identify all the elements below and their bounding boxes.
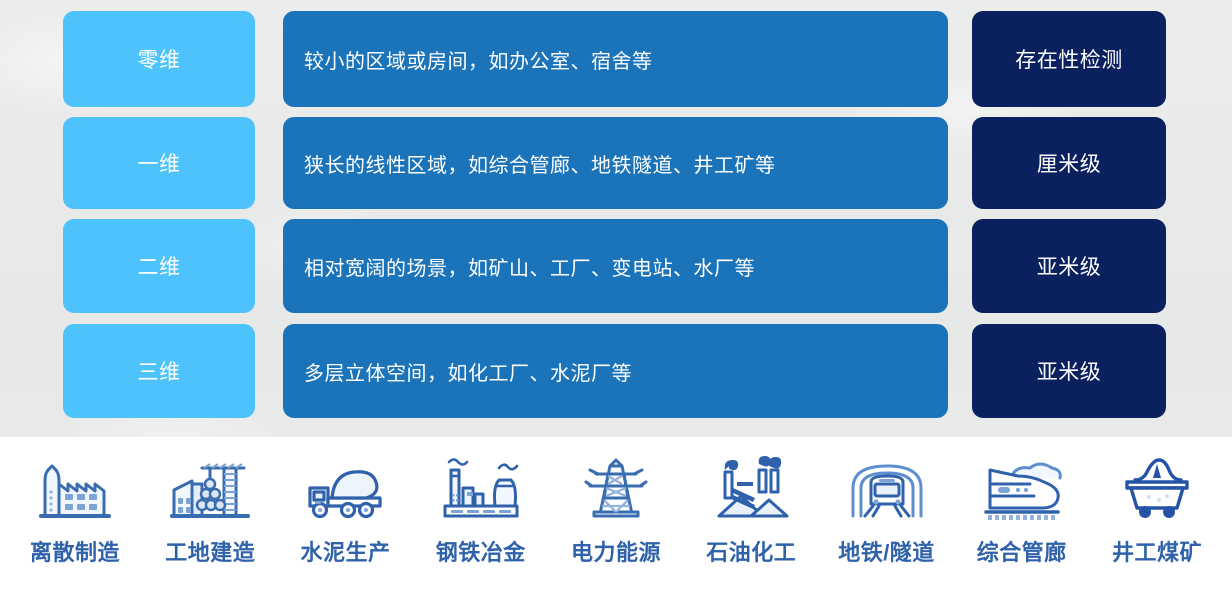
industry-label: 石油化工: [706, 535, 796, 567]
precision-cell[interactable]: 亚米级: [972, 219, 1166, 313]
petrochemical-plant-icon: [705, 451, 797, 529]
industry-label: 工地建造: [165, 535, 255, 567]
industry-label: 水泥生产: [300, 535, 390, 567]
steel-plant-icon: [435, 451, 527, 529]
factory-icon: [29, 451, 121, 529]
industry-item-cement-production[interactable]: 水泥生产: [281, 451, 411, 567]
table-row: 三维 多层立体空间，如化工厂、水泥厂等 亚米级: [0, 324, 1232, 418]
industry-label: 综合管廊: [977, 535, 1067, 567]
industry-item-power-energy[interactable]: 电力能源: [551, 451, 681, 567]
construction-crane-icon: [164, 451, 256, 529]
dimension-cell[interactable]: 一维: [63, 117, 255, 209]
dimension-cell[interactable]: 三维: [63, 324, 255, 418]
industry-label: 离散制造: [30, 535, 120, 567]
industry-strip: 离散制造: [0, 437, 1232, 610]
dimension-cell[interactable]: 二维: [63, 219, 255, 313]
industry-item-discrete-manufacturing[interactable]: 离散制造: [10, 451, 140, 567]
high-speed-train-icon: [976, 451, 1068, 529]
description-cell[interactable]: 狭长的线性区域，如综合管廊、地铁隧道、井工矿等: [283, 117, 948, 209]
precision-cell[interactable]: 亚米级: [972, 324, 1166, 418]
industry-item-construction-site[interactable]: 工地建造: [145, 451, 275, 567]
precision-cell[interactable]: 存在性检测: [972, 11, 1166, 107]
industry-item-utility-tunnel[interactable]: 综合管廊: [957, 451, 1087, 567]
description-cell[interactable]: 多层立体空间，如化工厂、水泥厂等: [283, 324, 948, 418]
description-cell[interactable]: 较小的区域或房间，如办公室、宿舍等: [283, 11, 948, 107]
industry-label: 地铁/隧道: [838, 535, 935, 567]
industry-label: 电力能源: [571, 535, 661, 567]
precision-cell[interactable]: 厘米级: [972, 117, 1166, 209]
description-cell[interactable]: 相对宽阔的场景，如矿山、工厂、变电站、水厂等: [283, 219, 948, 313]
industry-item-petrochemical[interactable]: 石油化工: [686, 451, 816, 567]
industry-item-underground-coal-mine[interactable]: 井工煤矿: [1092, 451, 1222, 567]
cement-mixer-truck-icon: [300, 451, 392, 529]
power-pylon-icon: [570, 451, 662, 529]
dimension-cell[interactable]: 零维: [63, 11, 255, 107]
dimension-matrix: 零维 较小的区域或房间，如办公室、宿舍等 存在性检测 一维 狭长的线性区域，如综…: [0, 0, 1232, 437]
table-row: 一维 狭长的线性区域，如综合管廊、地铁隧道、井工矿等 厘米级: [0, 117, 1232, 209]
industry-label: 井工煤矿: [1112, 535, 1202, 567]
table-row: 二维 相对宽阔的场景，如矿山、工厂、变电站、水厂等 亚米级: [0, 219, 1232, 313]
subway-tunnel-icon: [841, 451, 933, 529]
industry-item-subway-tunnel[interactable]: 地铁/隧道: [822, 451, 952, 567]
industry-label: 钢铁冶金: [436, 535, 526, 567]
table-row: 零维 较小的区域或房间，如办公室、宿舍等 存在性检测: [0, 11, 1232, 107]
coal-mine-cart-icon: [1111, 451, 1203, 529]
industry-item-steel-metallurgy[interactable]: 钢铁冶金: [416, 451, 546, 567]
